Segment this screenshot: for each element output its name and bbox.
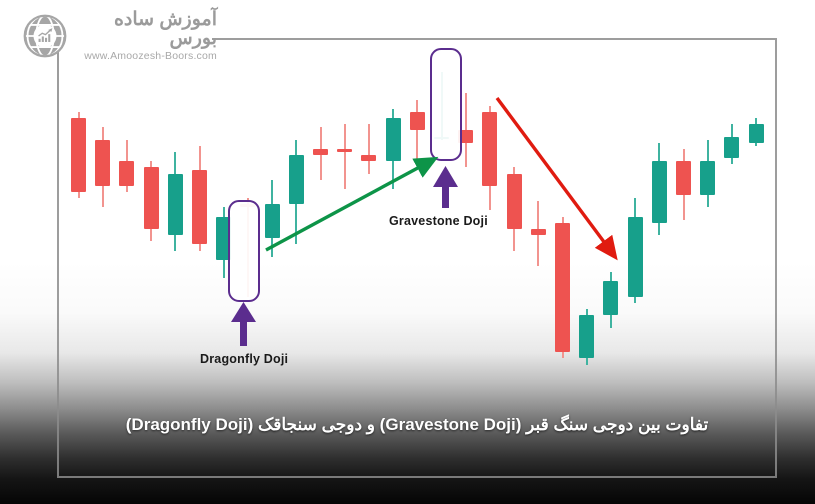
candle [168,38,183,383]
candle [95,38,110,383]
candle-body [265,204,280,238]
candle [265,38,280,383]
candle [507,38,522,383]
candle-body [410,112,425,130]
candle-body [71,118,86,192]
candle-body [192,170,207,244]
candle-body [507,174,522,229]
caption-text: تفاوت بین دوجی سنگ قبر (Gravestone Doji)… [57,415,777,435]
candle-body [603,281,618,315]
candle [628,38,643,383]
candle [555,38,570,383]
candle-body [337,149,352,152]
candle-body [361,155,376,161]
candle-body [749,124,764,142]
candle [410,38,425,383]
candle-body [168,174,183,236]
candle-body [700,161,715,195]
candle-body [579,315,594,358]
candle [144,38,159,383]
candle-body [119,161,134,186]
gravestone-doji-highlight-box [430,48,462,161]
candle-body [482,112,497,186]
candle [337,38,352,383]
candle [192,38,207,383]
candle [579,38,594,383]
candle [361,38,376,383]
candle-body [676,161,691,195]
candle [603,38,618,383]
candle [749,38,764,383]
dragonfly-doji-highlight-box [228,200,260,302]
candle-body [289,155,304,204]
candle [652,38,667,383]
candle [71,38,86,383]
dragonfly-doji-label: Dragonfly Doji [200,352,288,366]
candle-body [531,229,546,235]
candle [119,38,134,383]
candle [289,38,304,383]
image-canvas: آموزش ساده بورس www.Amoozesh-Boors.com [0,0,815,504]
gravestone-doji-label: Gravestone Doji [389,214,488,228]
candle-body [144,167,159,229]
candle-body [652,161,667,223]
candlestick-chart [57,38,777,383]
candle-wick [416,100,418,162]
candle [676,38,691,383]
candle-body [313,149,328,155]
candle-body [628,217,643,297]
candle-wick [368,124,370,173]
candle-wick [344,124,346,189]
candle [386,38,401,383]
candle-body [555,223,570,352]
candle-body [95,140,110,186]
candle [700,38,715,383]
candle-body [386,118,401,161]
candle [482,38,497,383]
candle [313,38,328,383]
candle [531,38,546,383]
candle-body [724,137,739,159]
candle [724,38,739,383]
